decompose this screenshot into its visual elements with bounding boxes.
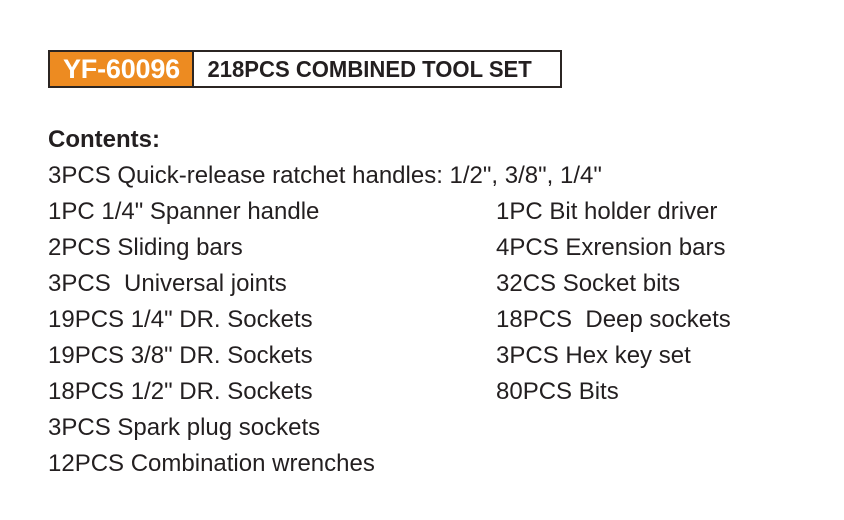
contents-item-left: 1PC 1/4" Spanner handle: [48, 194, 496, 230]
contents-row: 19PCS 3/8" DR. Sockets 3PCS Hex key set: [48, 338, 828, 374]
contents-row: 19PCS 1/4" DR. Sockets 18PCS Deep socket…: [48, 302, 828, 338]
contents-item-left: 2PCS Sliding bars: [48, 230, 496, 266]
contents-row: 3PCS Universal joints 32CS Socket bits: [48, 266, 828, 302]
contents-heading: Contents:: [48, 122, 828, 158]
product-header-banner: YF-60096 218PCS COMBINED TOOL SET: [48, 50, 562, 88]
contents-item-left: 19PCS 1/4" DR. Sockets: [48, 302, 496, 338]
contents-item-left: 12PCS Combination wrenches: [48, 446, 496, 482]
contents-row: 12PCS Combination wrenches: [48, 446, 828, 482]
contents-item-left: 3PCS Spark plug sockets: [48, 410, 496, 446]
contents-item-right: 4PCS Exrension bars: [496, 230, 828, 266]
contents-item-left: 3PCS Universal joints: [48, 266, 496, 302]
contents-item-right: 80PCS Bits: [496, 374, 828, 410]
contents-row: 2PCS Sliding bars 4PCS Exrension bars: [48, 230, 828, 266]
contents-row: 18PCS 1/2" DR. Sockets 80PCS Bits: [48, 374, 828, 410]
contents-item-right: [496, 410, 828, 446]
model-code-badge: YF-60096: [50, 52, 192, 86]
contents-item-right: 3PCS Hex key set: [496, 338, 828, 374]
contents-item-left: 19PCS 3/8" DR. Sockets: [48, 338, 496, 374]
contents-row-full: 3PCS Quick-release ratchet handles: 1/2"…: [48, 158, 828, 194]
product-title: 218PCS COMBINED TOOL SET: [194, 52, 545, 86]
contents-item-right: 18PCS Deep sockets: [496, 302, 828, 338]
contents-item-right: [496, 446, 828, 482]
contents-item-left: 18PCS 1/2" DR. Sockets: [48, 374, 496, 410]
contents-item-ratchet-handles: 3PCS Quick-release ratchet handles: 1/2"…: [48, 158, 828, 194]
contents-item-right: 1PC Bit holder driver: [496, 194, 828, 230]
contents-row: 1PC 1/4" Spanner handle 1PC Bit holder d…: [48, 194, 828, 230]
contents-row: 3PCS Spark plug sockets: [48, 410, 828, 446]
contents-item-right: 32CS Socket bits: [496, 266, 828, 302]
contents-block: Contents: 3PCS Quick-release ratchet han…: [48, 122, 828, 482]
